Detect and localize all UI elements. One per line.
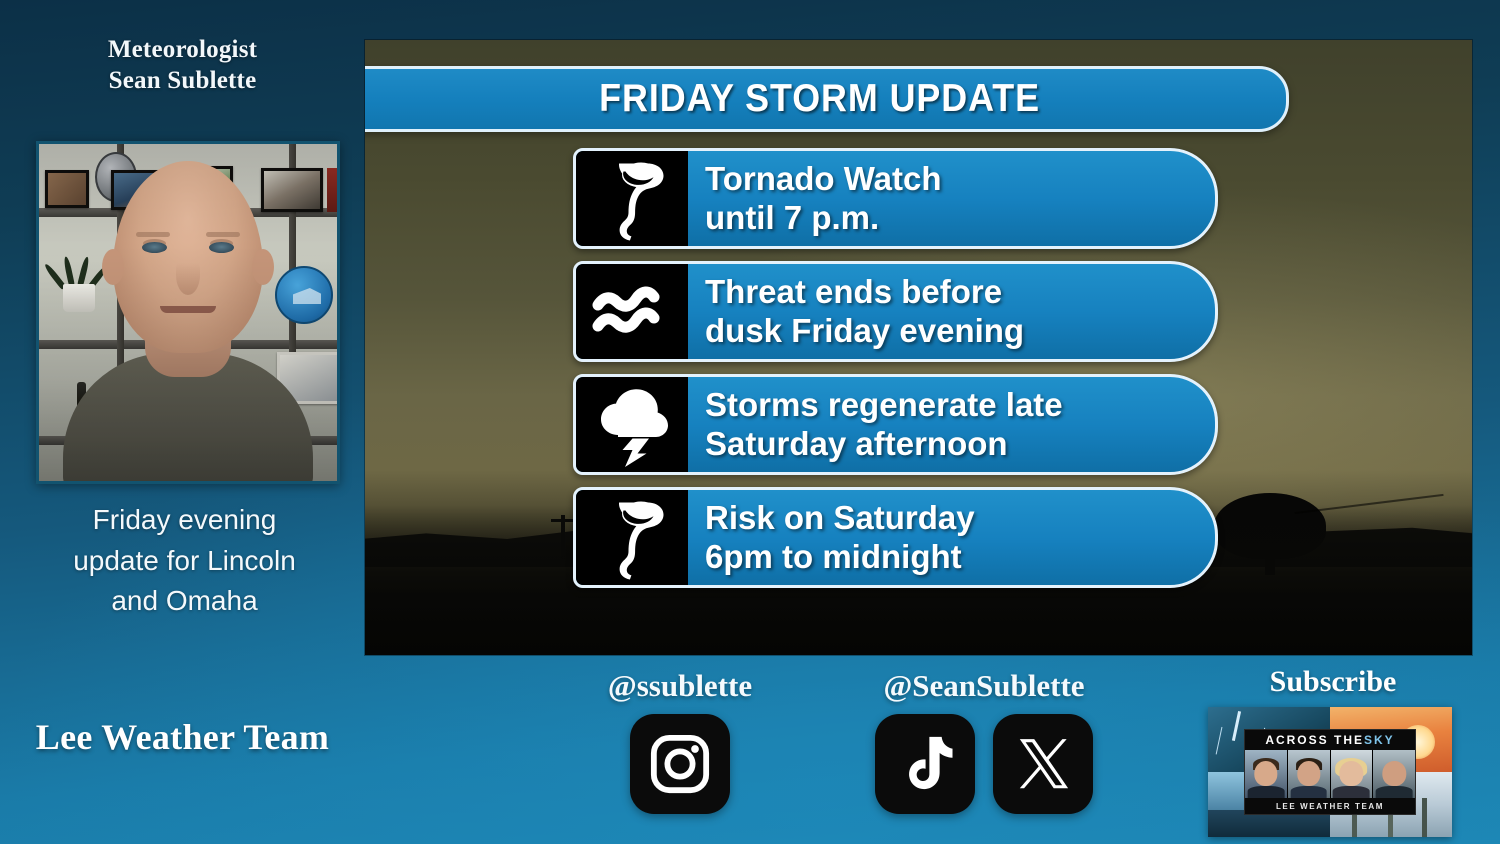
segment-caption-line2: update for Lincoln [18,541,351,582]
host-eye-right [209,242,234,253]
bullet-row-text: Risk on Saturday 6pm to midnight [688,487,1218,588]
host-eye-left [142,242,167,253]
host-photo [1331,750,1373,798]
bullet-row-line2: 6pm to midnight [705,538,1174,577]
instagram-block[interactable]: @ssublette [560,668,800,814]
thunderstorm-icon [576,377,688,472]
bullet-list: Tornado Watch until 7 p.m. Threat ends b… [573,148,1218,600]
podcast-title-accent: SKY [1364,733,1395,747]
segment-caption-line3: and Omaha [18,581,351,622]
host-brow-left [136,232,170,237]
segment-caption-line1: Friday evening [18,500,351,541]
tornado-icon [576,151,688,246]
host-photo [1373,750,1415,798]
bullet-row-text: Tornado Watch until 7 p.m. [688,148,1218,249]
bullet-row-line2: Saturday afternoon [705,425,1174,464]
bullet-row: Tornado Watch until 7 p.m. [573,148,1218,249]
bullet-row: Storms regenerate late Saturday afternoo… [573,374,1218,475]
bullet-row-text: Storms regenerate late Saturday afternoo… [688,374,1218,475]
bullet-row-line2: until 7 p.m. [705,199,1174,238]
host-title: Meteorologist Sean Sublette [0,34,365,96]
instagram-icon-row [560,714,800,814]
podcast-title-main: ACROSS THE [1265,733,1364,747]
host-mouth [160,306,216,313]
brand-wordmark: Lee Weather Team [0,716,365,758]
graphic-header-bar: FRIDAY STORM UPDATE [365,66,1289,132]
podcast-subtitle: LEE WEATHER TEAM [1245,798,1415,814]
graphic-header-title: FRIDAY STORM UPDATE [600,77,1041,121]
podcast-title-card: ACROSS THE SKY LEE WEATHER TEAM [1244,729,1416,815]
tiktok-x-block[interactable]: @SeanSublette [862,668,1106,814]
broadcast-stage: Meteorologist Sean Sublette [0,0,1500,844]
bullet-row-line1: Storms regenerate late [705,386,1174,425]
host-title-line1: Meteorologist [0,34,365,65]
tornado-icon [576,490,688,585]
webcam-video-feed [36,141,340,484]
bullet-row-line2: dusk Friday evening [705,312,1174,351]
weather-graphic-panel: FRIDAY STORM UPDATE Tornado Watch until … [365,40,1472,655]
wind-icon [576,264,688,359]
podcast-thumbnail[interactable]: ACROSS THE SKY LEE WEATHER TEAM [1208,707,1452,837]
podcast-title: ACROSS THE SKY [1245,730,1415,750]
subscribe-block[interactable]: Subscribe ACROSS THE SKY LEE WEATHER TEA… [1208,665,1458,837]
tiktok-x-icon-row [862,714,1106,814]
bullet-row-text: Threat ends before dusk Friday evening [688,261,1218,362]
bullet-row-line1: Risk on Saturday [705,499,1174,538]
left-panel: Meteorologist Sean Sublette [0,0,365,844]
bullet-row-line1: Threat ends before [705,273,1174,312]
tiktok-x-handle: @SeanSublette [862,668,1106,704]
host-photo [1288,750,1330,798]
bullet-row: Threat ends before dusk Friday evening [573,261,1218,362]
podcast-host-photos [1245,750,1415,798]
x-twitter-icon[interactable] [993,714,1093,814]
host-person [39,181,337,481]
bullet-row: Risk on Saturday 6pm to midnight [573,487,1218,588]
tiktok-icon[interactable] [875,714,975,814]
subscribe-label: Subscribe [1208,665,1458,699]
bullet-row-line1: Tornado Watch [705,160,1174,199]
host-photo [1245,750,1287,798]
host-ear-left [102,249,124,285]
instagram-handle: @ssublette [560,668,800,704]
host-title-line2: Sean Sublette [0,65,365,96]
host-ear-right [252,249,274,285]
host-nose [176,255,200,295]
instagram-icon[interactable] [630,714,730,814]
segment-caption: Friday evening update for Lincoln and Om… [18,500,351,622]
host-brow-right [206,232,240,237]
